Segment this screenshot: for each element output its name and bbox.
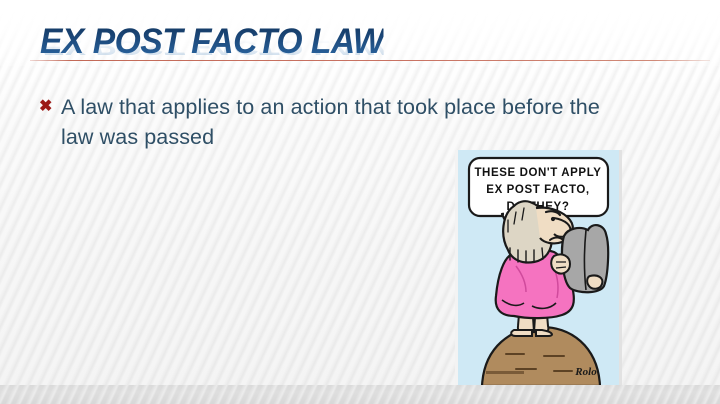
cartoon-image: THESE DON'T APPLY EX POST FACTO, DO THEY… [455,150,622,386]
slide-bottom-band [0,385,720,404]
slide-body: ✖ A law that applies to an action that t… [36,92,636,152]
title-underline-rule [30,60,710,61]
cartoon-signature: Rolo [574,366,597,378]
bullet-x-icon: ✖ [36,92,61,122]
speech-line-1: THESE DON'T APPLY [474,167,601,179]
slide: EX POST FACTO LAW EX POST FACTO LAW ✖ A … [0,0,720,404]
speech-line-2: EX POST FACTO, [486,184,589,196]
slide-title-block: EX POST FACTO LAW EX POST FACTO LAW [0,0,720,78]
list-item: ✖ A law that applies to an action that t… [36,92,636,152]
page-title: EX POST FACTO LAW [40,23,384,61]
slide-bottom-band-texture [0,385,720,404]
bullet-text: A law that applies to an action that too… [61,92,621,152]
